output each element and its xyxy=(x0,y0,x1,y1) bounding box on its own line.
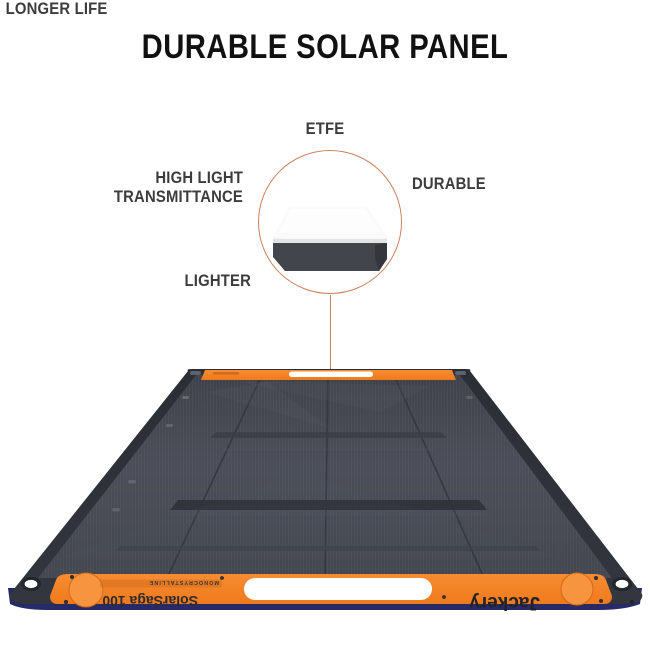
grommet-hole-rear-left xyxy=(190,371,201,375)
product-micro-text: MONOCRYSTALLINE xyxy=(100,579,222,588)
callout-label-high-light-transmittance: HIGH LIGHT TRANSMITTANCE xyxy=(24,169,243,207)
panel-side-clip xyxy=(128,480,136,483)
brand-label: Jackery xyxy=(469,592,540,613)
screw xyxy=(442,595,446,599)
panel-cell-area xyxy=(38,375,612,578)
callout-label-line-1: HIGH LIGHT xyxy=(24,169,243,188)
panel-side-clip xyxy=(112,508,120,511)
grommet-hole-left xyxy=(21,577,41,591)
callout-label-etfe: ETFE xyxy=(33,120,618,139)
panel-side-clip xyxy=(166,424,173,427)
callout-label-longer-life: LONGER LIFE xyxy=(6,0,108,19)
page-title: DURABLE SOLAR PANEL xyxy=(46,28,605,67)
screw xyxy=(64,600,68,604)
panel-side-clip xyxy=(182,396,189,399)
screw xyxy=(594,576,598,580)
etfe-layer-illustration xyxy=(259,151,401,293)
screw xyxy=(599,599,603,603)
panel-side-clip xyxy=(466,396,473,399)
micro-label: MONOCRYSTALLINE xyxy=(149,579,219,585)
callout-label-line-2: TRANSMITTANCE xyxy=(24,188,243,207)
product-infographic: DURABLE SOLAR PANEL ETFE HIGH LIGHT TRAN… xyxy=(0,0,650,650)
carry-handle-cutout xyxy=(244,578,432,600)
rear-strip-marking xyxy=(213,372,239,375)
grommet-hole-right xyxy=(612,577,632,591)
screw xyxy=(220,576,224,580)
grommet-hole-rear-right xyxy=(455,371,466,375)
rear-handle-cutout xyxy=(289,372,373,378)
brand-dot-icon xyxy=(630,600,634,604)
callout-circle xyxy=(258,150,402,294)
callout-label-durable: DURABLE xyxy=(412,175,486,194)
callout-label-lighter: LIGHTER xyxy=(25,272,251,291)
solar-panel-illustration: SolarSaga 100 MONOCRYSTALLINE Jackery xyxy=(0,352,650,650)
model-label: SolarSaga 100 xyxy=(102,593,198,609)
product-model-text: SolarSaga 100 xyxy=(102,593,198,609)
screw xyxy=(70,575,74,579)
